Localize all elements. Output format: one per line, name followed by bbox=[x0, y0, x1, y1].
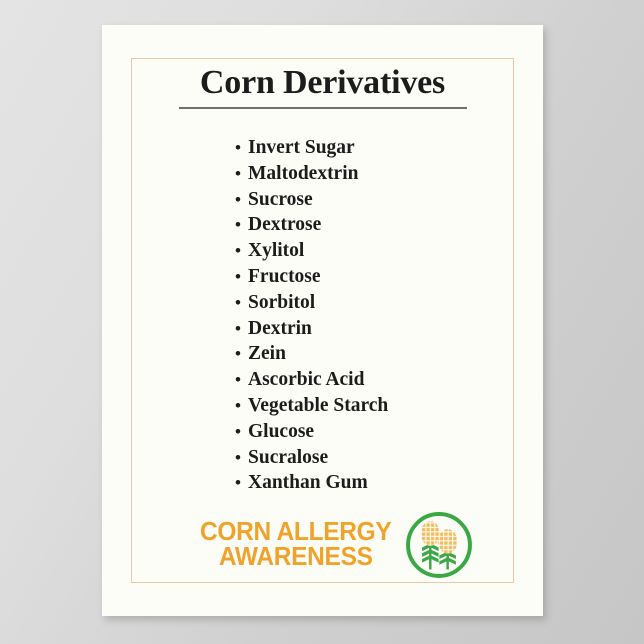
bullet-icon: • bbox=[235, 367, 248, 393]
page-title: Corn Derivatives bbox=[200, 65, 445, 101]
bullet-icon: • bbox=[235, 161, 248, 187]
bullet-icon: • bbox=[235, 470, 248, 496]
list-item-label: Maltodextrin bbox=[248, 161, 358, 187]
list-item: •Dextrose bbox=[235, 212, 543, 238]
list-item: •Glucose bbox=[235, 419, 543, 445]
list-item: •Zein bbox=[235, 341, 543, 367]
corn-derivatives-list: •Invert Sugar •Maltodextrin •Sucrose •De… bbox=[102, 135, 543, 496]
poster: Corn Derivatives •Invert Sugar •Maltodex… bbox=[102, 25, 543, 616]
bullet-icon: • bbox=[235, 290, 248, 316]
bullet-icon: • bbox=[235, 238, 248, 264]
list-item-label: Sorbitol bbox=[248, 290, 315, 316]
list-item: •Maltodextrin bbox=[235, 161, 543, 187]
bullet-icon: • bbox=[235, 341, 248, 367]
list-item-label: Xylitol bbox=[248, 238, 304, 264]
list-item: •Vegetable Starch bbox=[235, 393, 543, 419]
list-item: •Dextrin bbox=[235, 316, 543, 342]
list-item: •Sorbitol bbox=[235, 290, 543, 316]
bullet-icon: • bbox=[235, 212, 248, 238]
list-item: •Fructose bbox=[235, 264, 543, 290]
bullet-icon: • bbox=[235, 419, 248, 445]
logo-line-1: CORN ALLERGY bbox=[200, 520, 391, 545]
list-item-label: Fructose bbox=[248, 264, 321, 290]
bullet-icon: • bbox=[235, 135, 248, 161]
list-item-label: Glucose bbox=[248, 419, 314, 445]
bullet-icon: • bbox=[235, 393, 248, 419]
list-item-label: Vegetable Starch bbox=[248, 393, 388, 419]
list-item-label: Invert Sugar bbox=[248, 135, 355, 161]
screenshot-canvas: Corn Derivatives •Invert Sugar •Maltodex… bbox=[0, 0, 644, 644]
list-item-label: Sucrose bbox=[248, 187, 313, 213]
list-item: •Xanthan Gum bbox=[235, 470, 543, 496]
list-item-label: Dextrin bbox=[248, 316, 312, 342]
corn-circle-icon bbox=[403, 509, 475, 581]
logo-wordmark: CORN ALLERGY AWARENESS bbox=[196, 520, 395, 570]
list-item: •Sucralose bbox=[235, 445, 543, 471]
bullet-icon: • bbox=[235, 264, 248, 290]
bullet-icon: • bbox=[235, 187, 248, 213]
list-item-label: Sucralose bbox=[248, 445, 328, 471]
list-item: •Ascorbic Acid bbox=[235, 367, 543, 393]
corn-allergy-awareness-logo: CORN ALLERGY AWARENESS bbox=[102, 506, 543, 584]
bullet-icon: • bbox=[235, 445, 248, 471]
list-item-label: Zein bbox=[248, 341, 286, 367]
logo-line-2: AWARENESS bbox=[200, 545, 391, 570]
list-item: •Sucrose bbox=[235, 187, 543, 213]
title-underline-rule bbox=[179, 107, 467, 109]
list-item: •Xylitol bbox=[235, 238, 543, 264]
poster-title-block: Corn Derivatives bbox=[102, 65, 543, 109]
list-item-label: Xanthan Gum bbox=[248, 470, 368, 496]
list-item: •Invert Sugar bbox=[235, 135, 543, 161]
list-item-label: Dextrose bbox=[248, 212, 321, 238]
bullet-icon: • bbox=[235, 316, 248, 342]
list-item-label: Ascorbic Acid bbox=[248, 367, 364, 393]
